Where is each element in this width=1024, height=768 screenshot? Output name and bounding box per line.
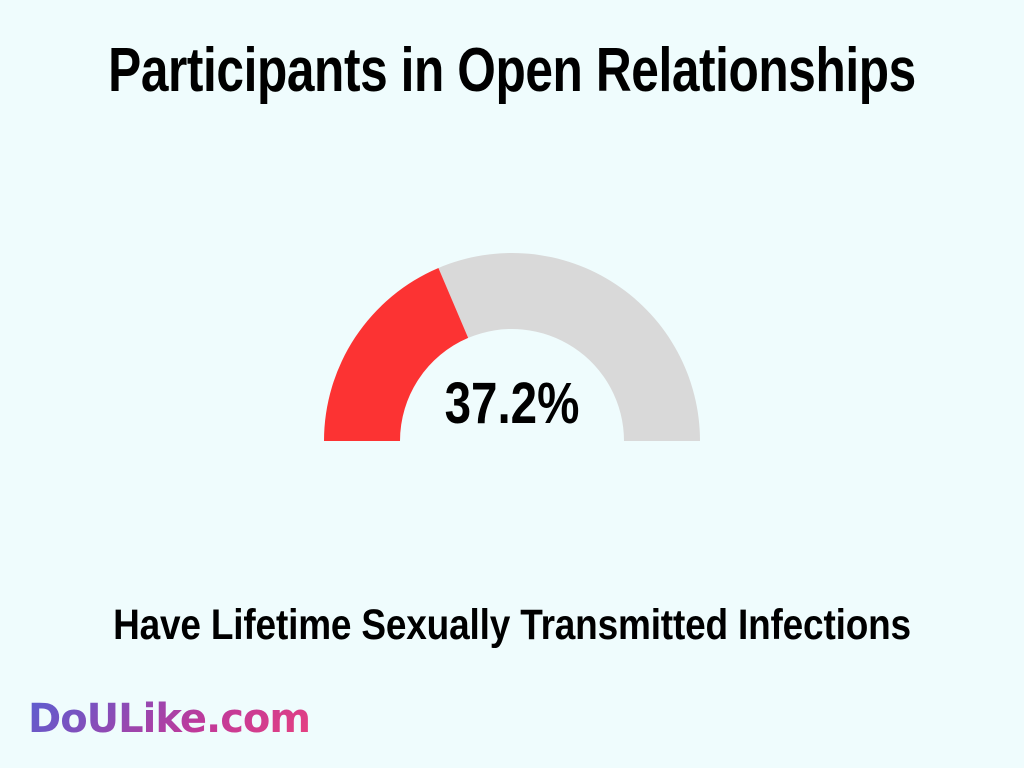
chart-subtitle: Have Lifetime Sexually Transmitted Infec… <box>72 600 953 650</box>
gauge-svg <box>0 0 1024 768</box>
gauge-value-label: 37.2% <box>445 375 580 433</box>
gauge-value-arc <box>324 268 468 441</box>
brand-logo[interactable]: DoULike.com <box>28 695 310 743</box>
gauge-track-arc <box>438 253 700 441</box>
page-title: Participants in Open Relationships <box>102 36 921 106</box>
gauge-chart: 37.2% <box>0 0 1024 768</box>
infographic-canvas: Participants in Open Relationships 37.2%… <box>0 0 1024 768</box>
